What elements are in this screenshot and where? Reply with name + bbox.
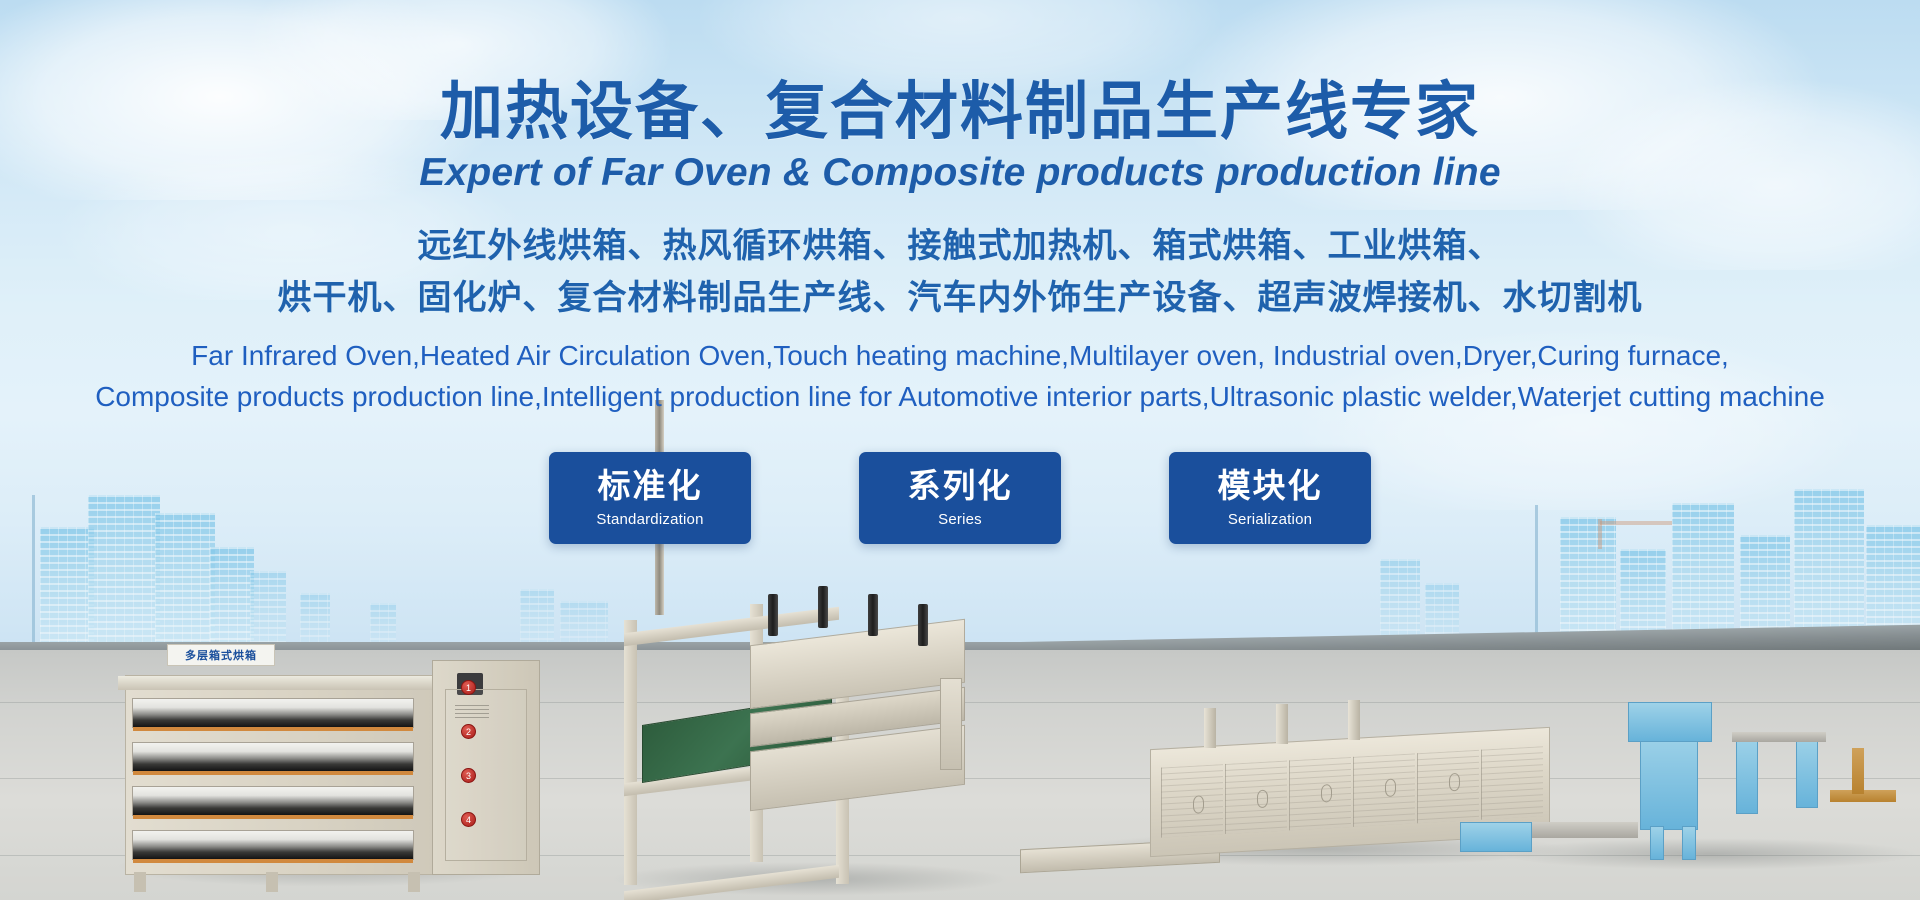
blue-press-leg: [1650, 826, 1664, 860]
blue-press-frame: [1640, 734, 1698, 830]
press-cylinder: [818, 586, 828, 628]
blue-press-head: [1628, 702, 1712, 742]
multilayer-oven-machine: 多层箱式烘箱 1 2 3 4: [125, 650, 540, 875]
robot-arm: [1852, 748, 1864, 794]
automation-line-machines: [1500, 685, 1920, 860]
badge-label-en: Standardization: [596, 511, 703, 528]
press-cylinder: [768, 594, 778, 636]
press-side-unit: [940, 678, 962, 770]
oven-button-1[interactable]: 1: [461, 680, 476, 695]
headline-block: 加热设备、复合材料制品生产线专家 Expert of Far Oven & Co…: [0, 0, 1920, 417]
press-cylinder: [868, 594, 878, 636]
oven-button-4[interactable]: 4: [461, 812, 476, 827]
badge-label-en: Serialization: [1228, 511, 1312, 528]
blue-column: [1796, 736, 1818, 808]
feature-badges: 标准化 Standardization 系列化 Series 模块化 Seria…: [0, 452, 1920, 544]
tunnel-exhaust-stack: [1204, 708, 1216, 748]
subtitle-en-line-1: Far Infrared Oven,Heated Air Circulation…: [0, 336, 1920, 377]
oven-button-3[interactable]: 3: [461, 768, 476, 783]
subtitle-cn-line-1: 远红外线烘箱、热风循环烘箱、接触式加热机、箱式烘箱、工业烘箱、: [0, 221, 1920, 273]
blue-press-leg: [1682, 826, 1696, 860]
press-cylinder: [918, 604, 928, 646]
composite-press-machine: [600, 560, 1020, 890]
blue-crossbeam: [1732, 732, 1826, 742]
blue-column: [1736, 736, 1758, 814]
badge-label-cn: 模块化: [1218, 468, 1323, 504]
badge-label-cn: 系列化: [908, 468, 1013, 504]
badge-serialization[interactable]: 模块化 Serialization: [1169, 452, 1371, 544]
blue-feeder: [1460, 822, 1532, 852]
page-title-en: Expert of Far Oven & Composite products …: [0, 152, 1920, 195]
badge-label-cn: 标准化: [598, 468, 703, 504]
subtitle-en-line-2: Composite products production line,Intel…: [0, 377, 1920, 418]
tunnel-exhaust-stack: [1276, 704, 1288, 744]
badge-label-en: Series: [938, 511, 982, 528]
oven-control-cabinet: [432, 660, 540, 875]
page-title-cn: 加热设备、复合材料制品生产线专家: [0, 78, 1920, 146]
oven-button-2[interactable]: 2: [461, 724, 476, 739]
tunnel-exhaust-stack: [1348, 700, 1360, 740]
subtitle-cn-line-2: 烘干机、固化炉、复合材料制品生产线、汽车内外饰生产设备、超声波焊接机、水切割机: [0, 273, 1920, 325]
badge-series[interactable]: 系列化 Series: [859, 452, 1061, 544]
badge-standardization[interactable]: 标准化 Standardization: [549, 452, 751, 544]
oven-nameplate: 多层箱式烘箱: [167, 644, 275, 666]
banner: 多层箱式烘箱 1 2 3 4: [0, 0, 1920, 900]
oven-body: [125, 675, 435, 875]
